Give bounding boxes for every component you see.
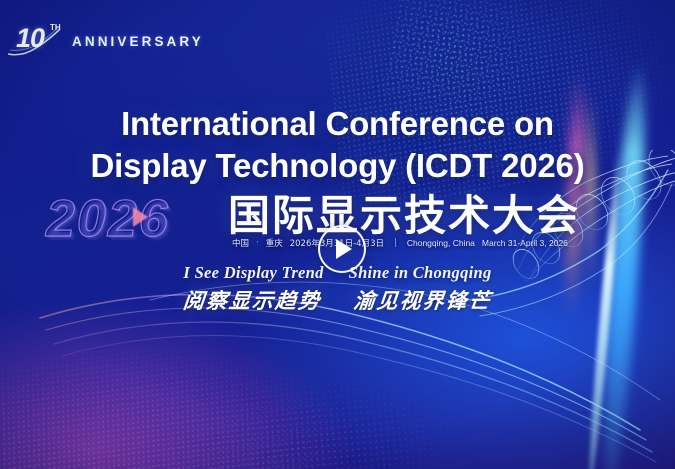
tagline-english-right: Shine in Chongqing bbox=[349, 263, 492, 282]
dateline-divider: | bbox=[391, 238, 400, 248]
anniversary-superscript: TH bbox=[50, 23, 61, 32]
page-title: International Conference on Display Tech… bbox=[0, 103, 675, 187]
title-line-1: International Conference on bbox=[0, 103, 675, 145]
anniversary-logo: 10 TH ANNIVERSARY bbox=[6, 24, 204, 58]
triangle-accent-icon bbox=[133, 207, 148, 227]
play-button[interactable] bbox=[318, 225, 366, 273]
tagline-chinese-right: 渝见视界锋芒 bbox=[352, 288, 493, 313]
video-poster: 10 TH ANNIVERSARY International Conferen… bbox=[0, 0, 675, 469]
tagline-chinese-left: 阅察显示趋势 bbox=[182, 288, 323, 313]
dateline-country-cn: 中国 bbox=[232, 237, 249, 249]
year-watermark: 2026 bbox=[46, 189, 170, 249]
page-title-chinese: 国际显示技术大会 bbox=[228, 193, 580, 239]
dateline-date-en: March 31-April 3, 2026 bbox=[482, 238, 568, 248]
dateline: 中国 · 重庆 2026年3月31日-4月3日 | Chongqing, Chi… bbox=[232, 237, 568, 249]
tagline-chinese: 阅察显示趋势 渝见视界锋芒 bbox=[0, 285, 675, 315]
dateline-separator: · bbox=[256, 238, 259, 248]
play-triangle-icon bbox=[336, 239, 352, 259]
dateline-city-en: Chongqing, China bbox=[407, 238, 475, 248]
anniversary-logo-mark: 10 TH bbox=[6, 24, 64, 58]
anniversary-number: 10 bbox=[16, 23, 44, 54]
tagline-english-left: I See Display Trend bbox=[183, 263, 323, 282]
title-line-2: Display Technology (ICDT 2026) bbox=[0, 145, 675, 187]
anniversary-label: ANNIVERSARY bbox=[72, 34, 204, 49]
dateline-city-cn: 重庆 bbox=[266, 237, 283, 249]
